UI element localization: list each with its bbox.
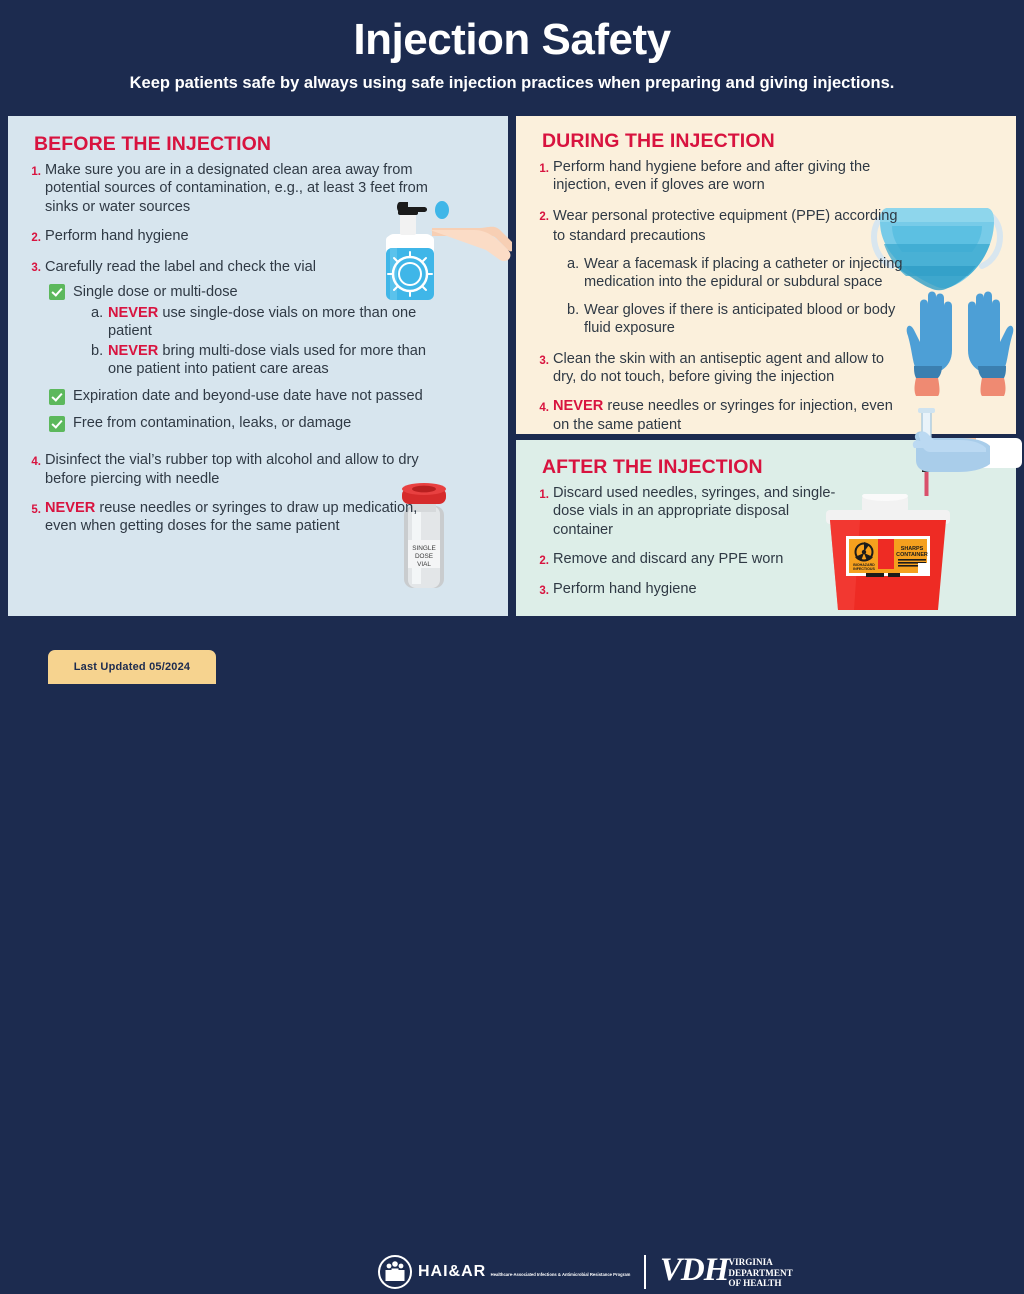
before-list: 1. Make sure you are in a designated cle… <box>30 161 450 536</box>
list-number: 2. <box>538 550 553 568</box>
list-item: 2. Remove and discard any PPE worn <box>538 550 838 568</box>
vdh-logo-mark: VDH <box>660 1255 729 1285</box>
checkmark-icon <box>49 284 65 300</box>
poster-header: Injection Safety Keep patients safe by a… <box>0 0 1024 112</box>
list-item: 2. Perform hand hygiene <box>30 227 450 245</box>
checklist-row: Single dose or multi-dose a. NEVER use s… <box>49 282 450 380</box>
hai-ar-logo: HAI&AR Healthcare-Associated Infections … <box>378 1255 630 1289</box>
section-title-during: DURING THE INJECTION <box>542 130 1016 153</box>
list-text: Make sure you are in a designated clean … <box>45 161 450 216</box>
never-keyword: NEVER <box>108 305 158 321</box>
list-item: 4. NEVER reuse needles or syringes for i… <box>538 397 908 434</box>
list-number: 1. <box>30 161 45 216</box>
list-item: 1. Discard used needles, syringes, and s… <box>538 484 838 539</box>
hai-logo-name: HAI&AR <box>418 1263 486 1280</box>
vdh-logo-subtitle: VIRGINIA DEPARTMENT OF HEALTH <box>728 1255 792 1289</box>
list-number: 3. <box>538 350 553 387</box>
list-item: 1. Perform hand hygiene before and after… <box>538 158 908 195</box>
list-text: Discard used needles, syringes, and sing… <box>553 484 838 539</box>
section-title-after: AFTER THE INJECTION <box>542 456 1016 479</box>
last-updated-badge: Last Updated 05/2024 <box>48 650 216 684</box>
sublist-letter: a. <box>91 304 108 341</box>
list-item: 3. Clean the skin with an antiseptic age… <box>538 350 908 387</box>
never-keyword: NEVER <box>108 343 158 359</box>
list-number: 4. <box>30 451 45 488</box>
section-title-before: BEFORE THE INJECTION <box>34 133 508 156</box>
list-text: Disinfect the vial’s rubber top with alc… <box>45 451 450 488</box>
never-keyword: NEVER <box>45 500 95 516</box>
list-item: 2. Wear personal protective equipment (P… <box>538 206 908 339</box>
sublist-item: b. Wear gloves if there is anticipated b… <box>567 301 908 338</box>
list-text: Clean the skin with an antiseptic agent … <box>553 350 908 387</box>
sublist-item: b. NEVER bring multi-dose vials used for… <box>91 342 450 379</box>
vdh-line-1: VIRGINIA <box>728 1257 792 1268</box>
checklist-row: Free from contamination, leaks, or damag… <box>49 414 450 432</box>
sublist-letter: b. <box>91 342 108 379</box>
list-number: 4. <box>538 397 553 434</box>
list-item: 3. Carefully read the label and check th… <box>30 257 450 441</box>
list-text: Perform hand hygiene <box>45 227 189 245</box>
list-text: Perform hand hygiene <box>553 580 697 598</box>
list-number: 5. <box>30 499 45 536</box>
vdh-logo: VDH VIRGINIA DEPARTMENT OF HEALTH <box>660 1255 793 1289</box>
sublist-letter: b. <box>567 301 584 338</box>
never-keyword: NEVER <box>553 398 603 414</box>
injection-safety-poster: Injection Safety Keep patients safe by a… <box>0 0 1024 684</box>
list-text: NEVER reuse needles or syringes for inje… <box>553 397 908 434</box>
list-item: 1. Make sure you are in a designated cle… <box>30 161 450 216</box>
sublist-text: NEVER use single-dose vials on more than… <box>108 304 450 341</box>
footer-logos: HAI&AR Healthcare-Associated Infections … <box>378 1250 793 1294</box>
sublist-text: Wear a facemask if placing a catheter or… <box>584 255 908 292</box>
list-text: Wear personal protective equipment (PPE)… <box>553 208 897 244</box>
vdh-line-3: OF HEALTH <box>728 1278 792 1289</box>
panel-before-the-injection: BEFORE THE INJECTION 1. Make sure you ar… <box>8 116 508 616</box>
checkmark-icon <box>49 389 65 405</box>
page-title: Injection Safety <box>0 0 1024 62</box>
list-text: Carefully read the label and check the v… <box>45 259 316 275</box>
vdh-line-2: DEPARTMENT <box>728 1268 792 1279</box>
sublist-letter: a. <box>567 255 584 292</box>
list-text: Remove and discard any PPE worn <box>553 550 783 568</box>
list-item: 3. Perform hand hygiene <box>538 580 838 598</box>
list-text: Perform hand hygiene before and after gi… <box>553 158 908 195</box>
sublist-text: Wear gloves if there is anticipated bloo… <box>584 301 908 338</box>
list-rest: reuse needles or syringes for injection,… <box>553 398 893 432</box>
checklist-label: Single dose or multi-dose <box>73 284 238 300</box>
list-item: 5. NEVER reuse needles or syringes to dr… <box>30 499 450 536</box>
list-rest: reuse needles or syringes to draw up med… <box>45 500 417 534</box>
panel-during-the-injection: DURING THE INJECTION 1. Perform hand hyg… <box>516 116 1016 434</box>
list-text: NEVER reuse needles or syringes to draw … <box>45 499 450 536</box>
list-item: 4. Disinfect the vial’s rubber top with … <box>30 451 450 488</box>
list-number: 3. <box>538 580 553 598</box>
logo-divider <box>644 1255 646 1289</box>
during-list: 1. Perform hand hygiene before and after… <box>538 158 908 434</box>
sublist-item: a. NEVER use single-dose vials on more t… <box>91 304 450 341</box>
vial-checklist: Single dose or multi-dose a. NEVER use s… <box>49 282 450 432</box>
list-number: 2. <box>30 227 45 245</box>
sublist-item: a. Wear a facemask if placing a catheter… <box>567 255 908 292</box>
page-subtitle: Keep patients safe by always using safe … <box>0 62 1024 93</box>
after-list: 1. Discard used needles, syringes, and s… <box>538 484 838 598</box>
sublist: a. Wear a facemask if placing a catheter… <box>567 255 908 338</box>
list-number: 3. <box>30 257 45 441</box>
list-number: 1. <box>538 158 553 195</box>
hai-logo-subtitle: Healthcare-Associated Infections & Antim… <box>491 1272 631 1277</box>
sublist-text: NEVER bring multi-dose vials used for mo… <box>108 342 450 379</box>
sublist: a. NEVER use single-dose vials on more t… <box>91 304 450 379</box>
hai-people-icon <box>378 1255 412 1289</box>
hai-logo-text: HAI&AR Healthcare-Associated Infections … <box>418 1263 630 1281</box>
checkmark-icon <box>49 416 65 432</box>
panel-after-the-injection: AFTER THE INJECTION 1. Discard used need… <box>516 440 1016 616</box>
list-number: 1. <box>538 484 553 539</box>
checklist-label: Expiration date and beyond-use date have… <box>73 387 423 405</box>
checklist-row: Expiration date and beyond-use date have… <box>49 387 450 405</box>
list-number: 2. <box>538 206 553 339</box>
checklist-label: Free from contamination, leaks, or damag… <box>73 414 351 432</box>
